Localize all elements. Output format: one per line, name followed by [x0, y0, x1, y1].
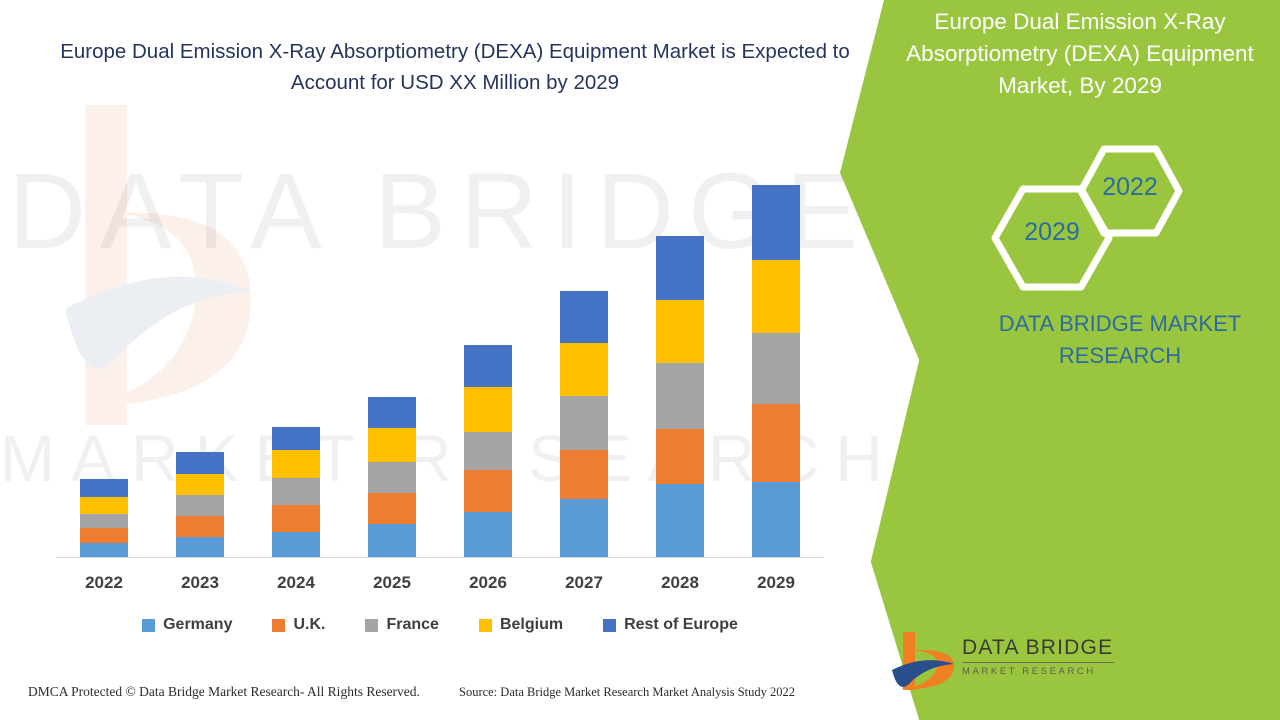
legend-swatch [365, 619, 378, 632]
bar-slot [152, 170, 248, 557]
legend-label: Belgium [500, 616, 563, 634]
legend-swatch [603, 619, 616, 632]
bar-segment [560, 396, 608, 450]
chart-legend: GermanyU.K.FranceBelgiumRest of Europe [56, 616, 824, 634]
bar-segment [560, 291, 608, 343]
bar-segment [656, 300, 704, 363]
x-axis-label: 2023 [152, 573, 248, 593]
bar-segment [752, 185, 800, 260]
bar-segment [176, 452, 224, 474]
bar-segment [752, 260, 800, 333]
bar-segment [752, 333, 800, 404]
bar-segment [272, 532, 320, 557]
bar-segment [272, 427, 320, 450]
bar-segment [560, 499, 608, 557]
x-axis-label: 2028 [632, 573, 728, 593]
x-axis-line [56, 557, 824, 558]
chart-title: Europe Dual Emission X-Ray Absorptiometr… [60, 36, 850, 98]
x-axis-labels: 20222023202420252026202720282029 [56, 573, 824, 593]
panel-brand-text: DATA BRIDGE MARKET RESEARCH [975, 308, 1265, 372]
bar-segment [80, 543, 128, 557]
bar-segment [80, 497, 128, 514]
legend-item[interactable]: Germany [142, 616, 232, 634]
x-axis-label: 2025 [344, 573, 440, 593]
bar-segment [272, 450, 320, 478]
footer-source: Source: Data Bridge Market Research Mark… [459, 685, 795, 700]
bar-slot [344, 170, 440, 557]
legend-item[interactable]: Rest of Europe [603, 616, 738, 634]
legend-swatch [142, 619, 155, 632]
x-axis-label: 2026 [440, 573, 536, 593]
legend-swatch [272, 619, 285, 632]
hexagon-badge-2029: 2029 [991, 185, 1113, 291]
stacked-bar [368, 397, 416, 557]
bar-segment [464, 470, 512, 512]
bar-segment [80, 528, 128, 543]
stacked-bar [464, 345, 512, 557]
bar-segment [368, 397, 416, 428]
legend-item[interactable]: U.K. [272, 616, 325, 634]
bar-segment [752, 482, 800, 557]
panel-title: Europe Dual Emission X-Ray Absorptiometr… [880, 6, 1280, 102]
bar-segment [656, 363, 704, 429]
infographic-page: DATA BRIDGE MARKET RESEARCH Europe Dual … [0, 0, 1280, 720]
bar-segment [176, 537, 224, 557]
x-axis-label: 2027 [536, 573, 632, 593]
bar-segment [176, 474, 224, 495]
bar-segment [368, 493, 416, 524]
legend-label: France [386, 616, 438, 634]
bar-segment [176, 516, 224, 537]
legend-item[interactable]: France [365, 616, 438, 634]
bar-segment [272, 505, 320, 532]
stacked-bar [272, 427, 320, 557]
x-axis-label: 2029 [728, 573, 824, 593]
bar-segment [272, 478, 320, 505]
legend-label: Rest of Europe [624, 616, 738, 634]
bar-slot [728, 170, 824, 557]
bar-segment [656, 429, 704, 484]
stacked-bar [80, 479, 128, 557]
bar-segment [464, 345, 512, 387]
bar-segment [80, 514, 128, 528]
bar-segment [560, 450, 608, 499]
x-axis-label: 2024 [248, 573, 344, 593]
logo-title: DATA BRIDGE [962, 636, 1122, 660]
bar-segment [560, 343, 608, 396]
bar-segment [176, 495, 224, 516]
legend-label: Germany [163, 616, 232, 634]
bar-segment [368, 524, 416, 557]
bar-segment [656, 236, 704, 300]
databridge-logo: DATA BRIDGE MARKET RESEARCH [890, 628, 1120, 700]
bar-slot [536, 170, 632, 557]
bar-slot [632, 170, 728, 557]
hexagon-label-2029: 2029 [991, 218, 1113, 247]
bar-slot [248, 170, 344, 557]
stacked-bar [176, 452, 224, 557]
databridge-logo-text: DATA BRIDGE MARKET RESEARCH [962, 636, 1122, 677]
bar-segment [368, 462, 416, 493]
chart-plot-area [56, 170, 824, 558]
logo-subtitle: MARKET RESEARCH [962, 666, 1122, 677]
bar-slot [440, 170, 536, 557]
bar-segment [656, 484, 704, 557]
logo-divider [962, 662, 1114, 663]
footer-copyright: DMCA Protected © Data Bridge Market Rese… [28, 684, 420, 700]
legend-swatch [479, 619, 492, 632]
bar-segment [80, 479, 128, 497]
legend-item[interactable]: Belgium [479, 616, 563, 634]
bar-segment [752, 404, 800, 482]
databridge-logo-icon [890, 628, 968, 698]
bar-segment [368, 428, 416, 462]
bar-segment [464, 432, 512, 470]
bar-group [56, 170, 824, 557]
stacked-bar [560, 291, 608, 557]
legend-label: U.K. [293, 616, 325, 634]
x-axis-label: 2022 [56, 573, 152, 593]
stacked-bar [656, 236, 704, 557]
bar-slot [56, 170, 152, 557]
stacked-bar [752, 185, 800, 557]
bar-segment [464, 387, 512, 432]
bar-segment [464, 512, 512, 557]
